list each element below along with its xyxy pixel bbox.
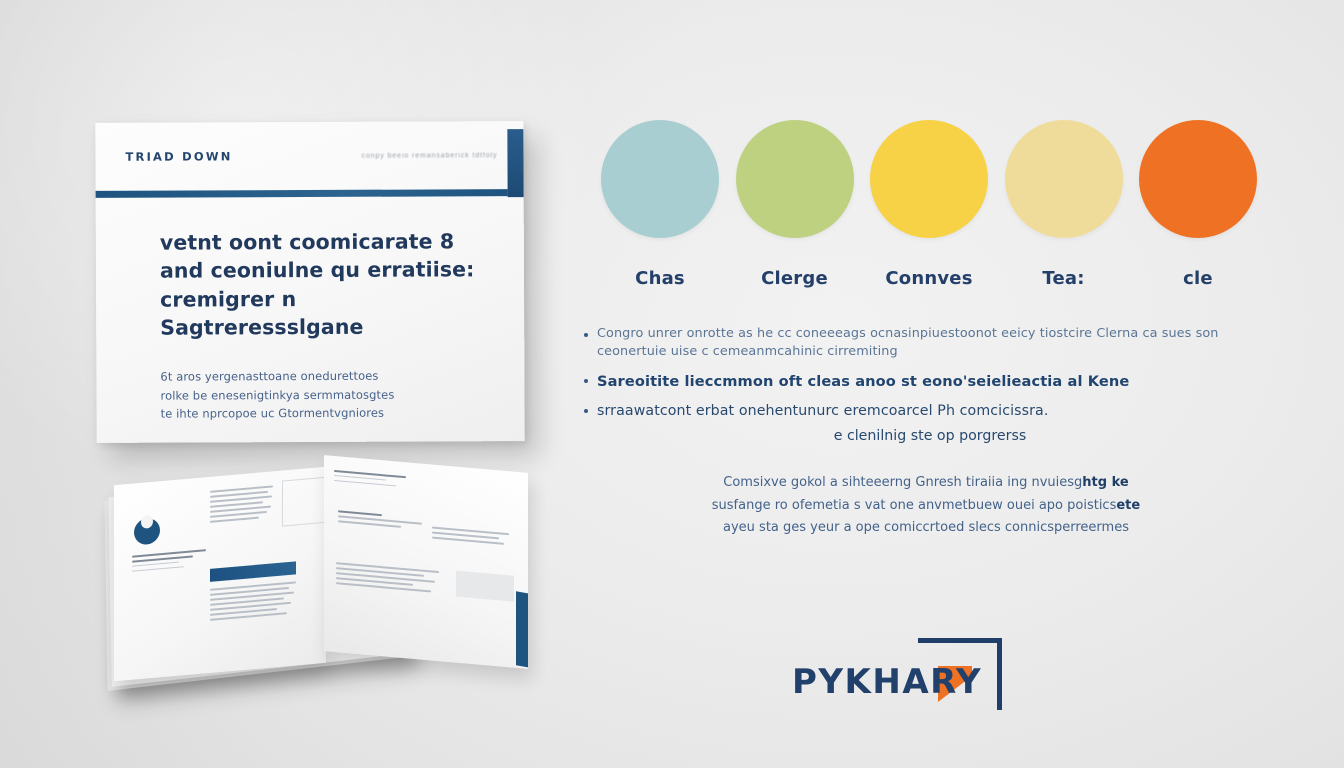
swatch-item[interactable]: Chas — [600, 120, 720, 289]
flyer-accent-bar — [507, 129, 523, 197]
paragraph-text: susfange ro ofemetia s vat one anvmetbue… — [712, 498, 1117, 513]
swatch-circle-icon — [870, 120, 988, 238]
flyer-meta-text: conpy beeio remansaberick tdtfoly — [361, 152, 497, 160]
flyer-body: vetnt oont coomicarate 8 and ceoniulne q… — [96, 189, 525, 424]
bullet-text: Sareoitite lieccmmon oft cleas anoo st e… — [597, 371, 1129, 392]
flyer-subtext-line: 6t aros yergenasttoane onedurettoes — [160, 366, 482, 386]
paragraph-emphasis: htg ke — [1082, 475, 1128, 490]
bullet-item: Congro unrer onrotte as he cc coneeeags … — [584, 325, 1276, 362]
flyer-subtext-line: te ihte nprcopoe uc Gtormentvgniores — [161, 404, 483, 424]
paragraph-line: susfange ro ofemetia s vat one anvmetbue… — [576, 495, 1276, 517]
brochure-boxed-block — [282, 477, 326, 527]
brochure-logo-caption — [132, 549, 206, 575]
flyer-title: vetnt oont coomicarate 8 and ceoniulne q… — [160, 227, 482, 342]
brochure-navy-highlight-bar — [210, 561, 296, 582]
bullet-dot-icon — [584, 379, 588, 383]
paragraph-line: ayeu sta ges yeur a ope comiccrtoed slec… — [576, 517, 1276, 539]
flyer-header: TRIAD DOWN conpy beeio remansaberick tdt… — [95, 121, 523, 191]
swatch-circle-icon — [736, 120, 854, 238]
brochure-right-block-c — [432, 527, 518, 549]
swatch-circle-icon — [1139, 120, 1257, 238]
bullet-item: srraawatcont erbat onehentunurc eremcoar… — [584, 401, 1276, 421]
brochure-logo-icon — [134, 517, 160, 545]
swatch-label: Chas — [600, 268, 720, 289]
color-swatch-row: Chas Clerge Connves Tea: cle — [576, 120, 1276, 289]
bullet-list-tail: e clenilnig ste op porgrerss — [584, 428, 1276, 444]
swatch-item[interactable]: Connves — [869, 120, 989, 289]
brochure-right-heading-lines — [334, 470, 406, 490]
paragraph-text: Comsixve gokol a sihteeerng Gnresh tirai… — [723, 475, 1082, 490]
swatch-circle-icon — [601, 120, 719, 238]
flyer-card: TRIAD DOWN conpy beeio remansaberick tdt… — [95, 121, 524, 443]
paragraph-emphasis: ete — [1116, 498, 1140, 513]
flyer-title-line: and ceoniulne qu erratiise: — [160, 256, 482, 286]
flyer-title-line: cremigrer n Sagtreressslgane — [160, 284, 482, 342]
right-panel: Chas Clerge Connves Tea: cle Congro unre… — [576, 120, 1276, 720]
bullet-dot-icon — [584, 333, 588, 337]
bullet-item: Sareoitite lieccmmon oft cleas anoo st e… — [584, 371, 1276, 392]
swatch-circle-icon — [1005, 120, 1123, 238]
swatch-label: Connves — [869, 268, 989, 289]
brochure-left-page — [114, 467, 326, 682]
body-paragraph: Comsixve gokol a sihteeerng Gnresh tirai… — [576, 472, 1276, 539]
flyer-subtext-line: rolke be enesenigtinkya sermmatosgtes — [160, 385, 482, 405]
bullet-text: srraawatcont erbat onehentunurc eremcoar… — [597, 401, 1048, 421]
swatch-label: Clerge — [735, 268, 855, 289]
flyer-kicker: TRIAD DOWN — [125, 149, 232, 163]
swatch-label: cle — [1138, 268, 1258, 289]
swatch-item[interactable]: Clerge — [735, 120, 855, 289]
bullet-list: Congro unrer onrotte as he cc coneeeags … — [576, 325, 1276, 444]
brochure-right-block-b — [338, 510, 434, 533]
bullet-text: Congro unrer onrotte as he cc coneeeags … — [597, 325, 1276, 362]
swatch-item[interactable]: cle — [1138, 120, 1258, 289]
brochure-right-page — [324, 455, 528, 669]
swatch-label: Tea: — [1004, 268, 1124, 289]
brand-logo: PYKHARY — [792, 632, 1022, 722]
bullet-dot-icon — [584, 409, 588, 413]
logo-wordmark: PYKHARY — [792, 662, 982, 702]
brochure-right-gray-box — [456, 571, 514, 602]
brochure-text-block-a — [210, 485, 276, 526]
flyer-title-line: vetnt oont coomicarate 8 — [160, 227, 482, 257]
brochure-text-block-c — [210, 581, 298, 624]
brochure-navy-edge — [516, 591, 528, 667]
brochure-stack — [104, 470, 524, 702]
flyer-subtext: 6t aros yergenasttoane onedurettoes rolk… — [160, 366, 482, 423]
swatch-item[interactable]: Tea: — [1004, 120, 1124, 289]
paragraph-line: Comsixve gokol a sihteeerng Gnresh tirai… — [576, 472, 1276, 494]
brochure-right-block-d — [336, 562, 446, 597]
